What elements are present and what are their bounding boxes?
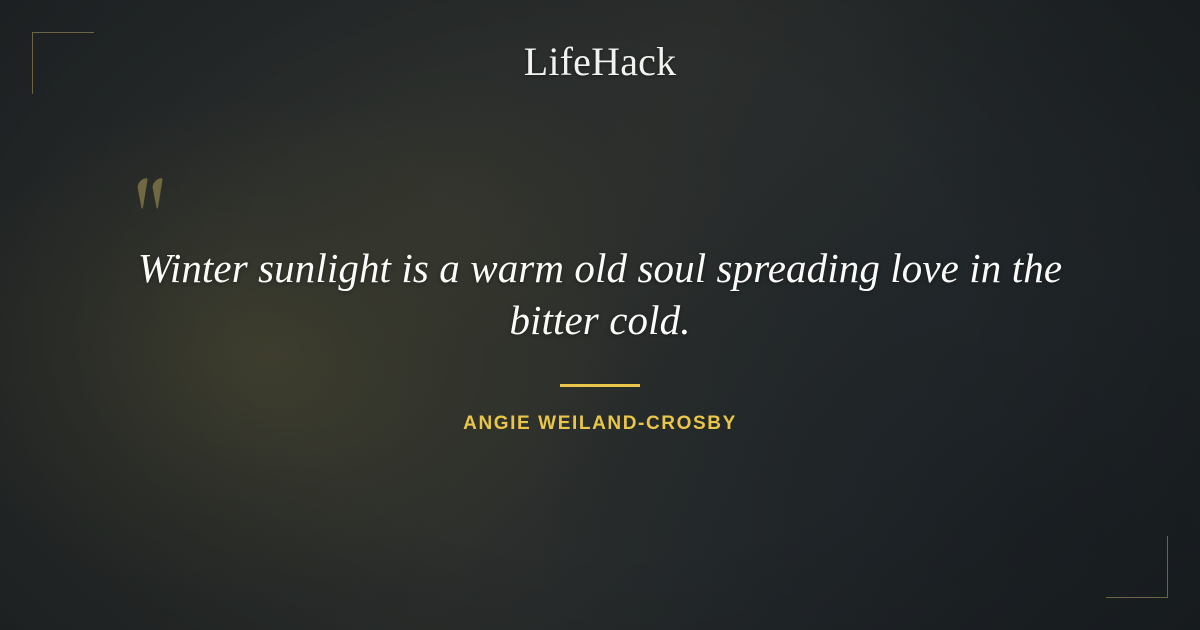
- quote-body-text: Winter sunlight is a warm old soul sprea…: [100, 242, 1100, 346]
- double-quote-icon: [132, 176, 176, 216]
- lifehack-logo: LifeHack: [0, 40, 1200, 84]
- corner-bracket-bottom-right: [1106, 536, 1168, 598]
- author-divider: [560, 384, 640, 387]
- quote-card: LifeHack Winter sunlight is a warm old s…: [0, 0, 1200, 630]
- quote-author: Angie Weiland-Crosby: [0, 413, 1200, 435]
